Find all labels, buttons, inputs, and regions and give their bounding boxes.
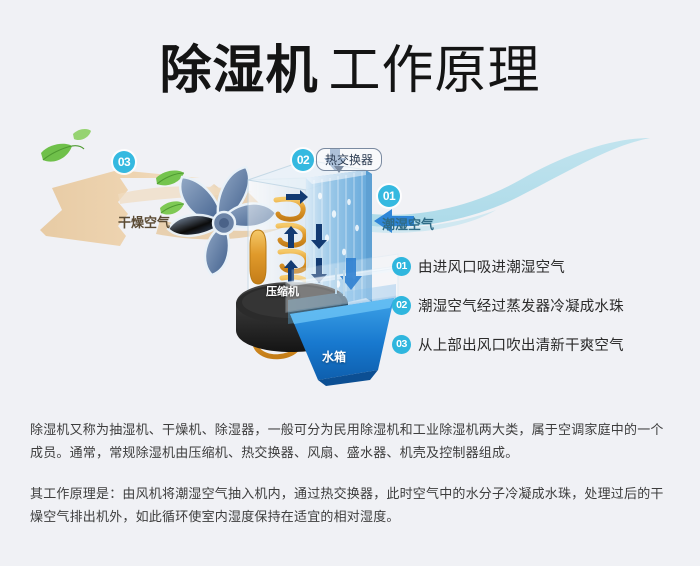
page-title-light: 工作原理 xyxy=(329,42,541,100)
label-water-tank: 水箱 xyxy=(322,348,346,365)
label-dry-air: 干燥空气 xyxy=(118,212,170,231)
page-title: 除湿机工作原理 xyxy=(0,28,700,103)
legend-text-03: 从上部出风口吹出清新干爽空气 xyxy=(418,334,624,355)
page-title-bold: 除湿机 xyxy=(159,42,318,100)
legend-badge-01: 01 xyxy=(392,257,411,276)
description-text: 除湿机又称为抽湿机、干燥机、除湿器，一般可分为民用除湿机和工业除湿机两大类，属于… xyxy=(30,418,675,546)
legend-item: 02 潮湿空气经过蒸发器冷凝成水珠 xyxy=(392,295,692,316)
legend-text-02: 潮湿空气经过蒸发器冷凝成水珠 xyxy=(418,295,624,316)
legend-item: 03 从上部出风口吹出清新干爽空气 xyxy=(392,334,692,355)
legend-badge-02: 02 xyxy=(392,296,411,315)
infographic-page: 除湿机工作原理 xyxy=(0,0,700,566)
diagram-badge-02: 02 xyxy=(292,149,314,171)
diagram-badge-03: 03 xyxy=(113,151,135,173)
diagram-badge-01: 01 xyxy=(378,185,400,207)
legend-badge-03: 03 xyxy=(392,335,411,354)
callout-pointer-icon xyxy=(334,166,344,173)
heat-exchanger-callout: 热交换器 xyxy=(316,148,382,171)
legend-text-01: 由进风口吸进潮湿空气 xyxy=(418,256,565,277)
leaf-icon xyxy=(41,144,84,162)
label-compressor: 压缩机 xyxy=(266,283,299,299)
legend-item: 01 由进风口吸进潮湿空气 xyxy=(392,256,692,277)
label-humid-air: 潮湿空气 xyxy=(382,214,434,233)
steps-legend: 01 由进风口吸进潮湿空气 02 潮湿空气经过蒸发器冷凝成水珠 03 从上部出风… xyxy=(392,256,692,373)
description-paragraph-2: 其工作原理是：由风机将潮湿空气抽入机内，通过热交换器，此时空气中的水分子冷凝成水… xyxy=(30,482,675,528)
leaf-icon xyxy=(73,129,91,140)
description-paragraph-1: 除湿机又称为抽湿机、干燥机、除湿器，一般可分为民用除湿机和工业除湿机两大类，属于… xyxy=(30,418,675,464)
